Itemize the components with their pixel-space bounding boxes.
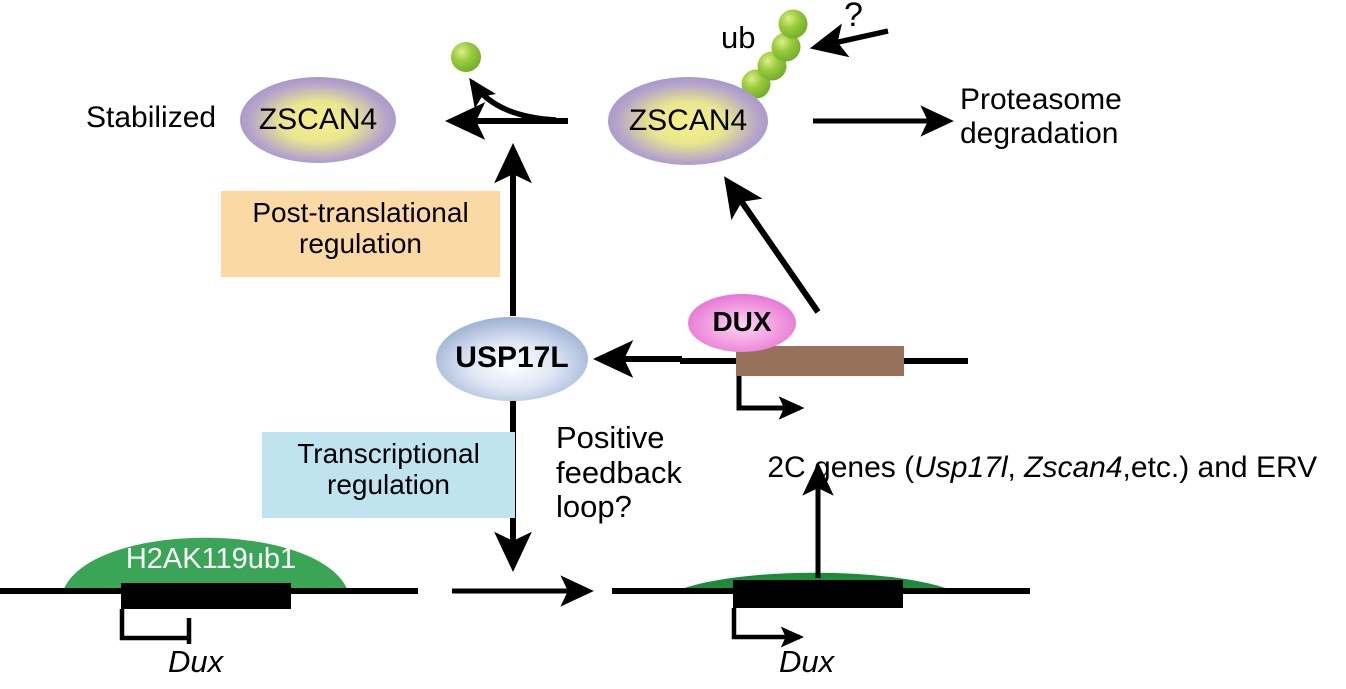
zscan4-ubiquitinated-label: ZSCAN4: [608, 104, 768, 138]
twoc-promoter-box: [736, 346, 904, 376]
question-mark-label: ?: [844, 0, 863, 35]
dux-gene-left-label: Dux: [168, 644, 223, 680]
twoc-genes-zscan4: Zscan4: [1024, 451, 1122, 484]
dux-gene-right-label: Dux: [779, 644, 834, 680]
transcriptional-regulation-label: Transcriptional regulation: [262, 438, 515, 501]
proteasome-line-1: Proteasome: [960, 83, 1160, 117]
proteasome-degradation-label: Proteasome degradation: [960, 83, 1160, 150]
twoc-genes-usp17l: Usp17l: [914, 451, 1007, 484]
active-transcription-arrow-icon: [739, 376, 800, 408]
zscan4-ubiquitinated-ellipse: [608, 77, 768, 165]
usp17l-ellipse: [436, 317, 588, 401]
positive-feedback-line-2: feedback: [556, 456, 726, 491]
zscan4-stabilized-label: ZSCAN4: [240, 103, 396, 137]
ubiquitin-sphere-icon: [742, 70, 771, 99]
dux-ellipse: [688, 294, 796, 352]
deubiquitination-arrow-group: [452, 82, 568, 121]
usp17l-label: USP17L: [434, 341, 590, 375]
dux-right-gene-body: [733, 580, 903, 608]
twoc-genes-prefix: 2C genes (: [767, 451, 914, 484]
proteasome-line-2: degradation: [960, 117, 1160, 151]
dux-locus-repressed: [0, 538, 418, 644]
ubiquitin-sphere-icon: [772, 33, 801, 62]
dux-protein-label: DUX: [688, 306, 796, 338]
twoc-genes-suffix: ,etc.) and ERV: [1123, 451, 1318, 484]
positive-feedback-loop-label: Positive feedback loop?: [556, 421, 726, 525]
h2ak119ub1-dome-reduced: [672, 573, 958, 593]
ub-label: ub: [721, 20, 755, 56]
dux-left-gene-body: [121, 583, 291, 609]
twoc-to-zscan4-arrow: [728, 182, 818, 312]
zscan4-stabilized-ellipse: [240, 77, 396, 163]
ub-release-curve: [472, 82, 556, 120]
repressed-transcription-arrow-icon: [122, 609, 189, 638]
post-translational-line-2: regulation: [221, 228, 500, 259]
twoc-genes-separator: ,: [1007, 451, 1024, 484]
positive-feedback-line-1: Positive: [556, 421, 726, 456]
ubiquitin-sphere-icon: [451, 42, 481, 72]
post-translational-regulation-label: Post-translational regulation: [221, 197, 500, 260]
h2ak119ub1-dome: [63, 538, 348, 591]
dux-locus-active: [612, 573, 1030, 637]
twoc-gene-locus: [680, 346, 968, 408]
positive-feedback-line-3: loop?: [556, 490, 726, 525]
active-transcription-arrow-icon: [734, 608, 800, 637]
stabilized-label: Stabilized: [86, 101, 216, 136]
h2ak119ub1-label: H2AK119ub1: [86, 543, 336, 576]
twoc-genes-label: 2C genes (Usp17l, Zscan4,etc.) and ERV: [734, 416, 1317, 520]
ubiquitin-sphere-icon: [779, 10, 808, 39]
ubiquitin-sphere-icon: [758, 52, 787, 81]
transcriptional-line-2: regulation: [262, 469, 515, 500]
pathway-diagram: Stabilized ZSCAN4 ZSCAN4 ub ? Proteasome…: [0, 0, 1346, 689]
transcriptional-line-1: Transcriptional: [262, 438, 515, 469]
post-translational-line-1: Post-translational: [221, 197, 500, 228]
